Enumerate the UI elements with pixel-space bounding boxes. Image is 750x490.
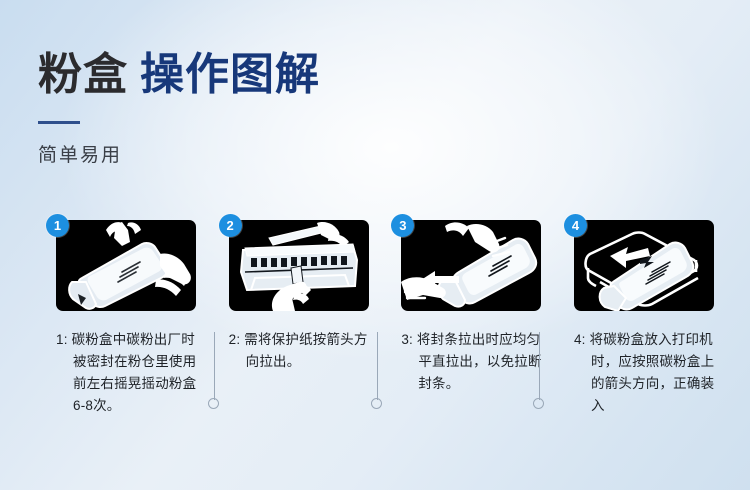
- step-caption: 1: 碳粉盒中碳粉出厂时被密封在粉仓里使用前左右摇晃摇动粉盒6-8次。: [56, 329, 198, 416]
- step-item: 2: [219, 214, 369, 373]
- step-illustration-panel: [574, 220, 714, 311]
- infographic-page: 粉盒操作图解 简单易用 1: [0, 0, 750, 490]
- step-illustration-panel: [56, 220, 196, 311]
- step-caption: 2: 需将保护纸按箭头方向拉出。: [229, 329, 371, 373]
- hands-shaking-toner-cartridge-icon: [56, 220, 196, 311]
- hands-pulling-seal-strip-icon: [401, 220, 541, 311]
- subtitle: 简单易用: [38, 140, 518, 167]
- step-badge: 2: [219, 214, 242, 237]
- page-title-dark: 粉盒: [38, 50, 128, 99]
- step-illustration-panel: [229, 220, 369, 311]
- page-title: 粉盒操作图解: [38, 52, 518, 99]
- step-illustration-wrap: 3: [391, 214, 541, 311]
- step-illustration-panel: [401, 220, 541, 311]
- step-illustration-wrap: 2: [219, 214, 369, 311]
- page-title-accent: 操作图解: [140, 50, 320, 99]
- steps-row: 1: [46, 214, 714, 416]
- step-item: 4: [564, 214, 714, 416]
- step-caption: 4: 将碳粉盒放入打印机时，应按照碳粉盒上的箭头方向，正确装入: [574, 329, 716, 416]
- step-item: 3: [391, 214, 541, 395]
- step-item: 1: [46, 214, 196, 416]
- hand-pulling-protective-paper-icon: [229, 220, 369, 311]
- step-illustration-wrap: 1: [46, 214, 196, 311]
- step-illustration-wrap: 4: [564, 214, 714, 311]
- step-badge: 1: [46, 214, 69, 237]
- step-caption: 3: 将封条拉出时应均匀平直拉出，以免拉断封条。: [401, 329, 543, 395]
- insert-cartridge-into-printer-icon: [574, 220, 714, 311]
- header: 粉盒操作图解 简单易用: [38, 52, 518, 167]
- title-rule-divider: [38, 121, 80, 124]
- step-badge: 4: [564, 214, 587, 237]
